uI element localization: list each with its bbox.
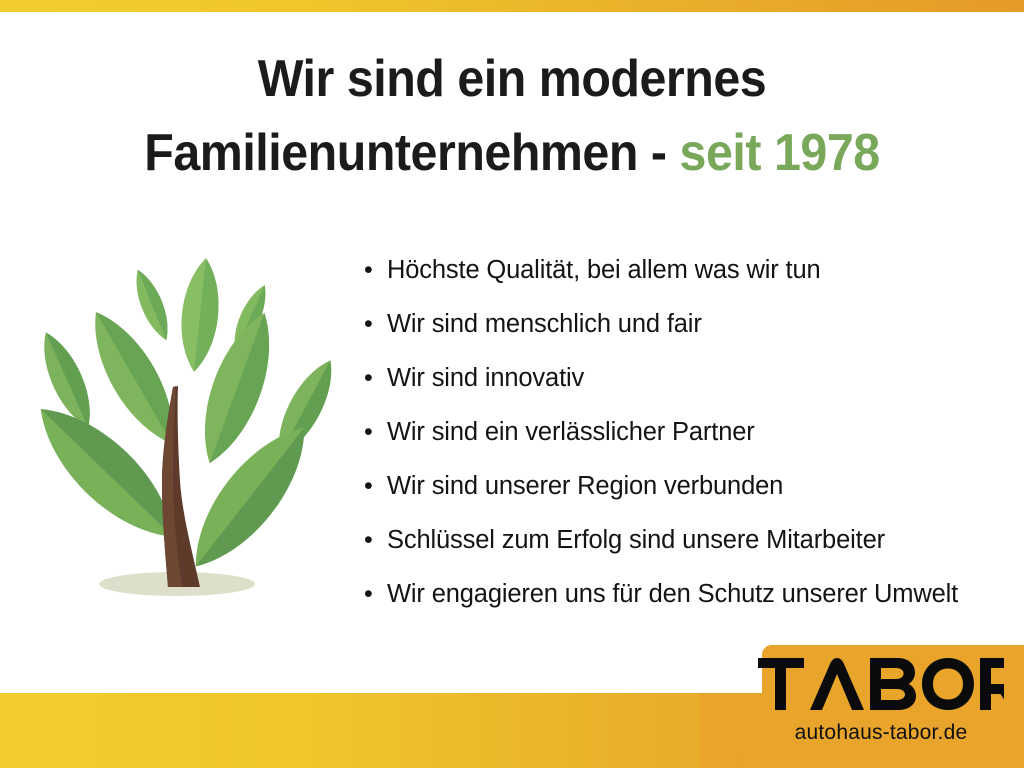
list-item: • Höchste Qualität, bei allem was wir tu… <box>364 243 1014 297</box>
bullet-icon: • <box>364 243 387 297</box>
bullet-icon: • <box>364 351 387 405</box>
tree-illustration <box>22 255 352 605</box>
bullet-icon: • <box>364 459 387 513</box>
page-title-line-1: Wir sind ein modernes <box>36 42 988 116</box>
leaf-lower-right <box>175 411 326 583</box>
list-item-label: Höchste Qualität, bei allem was wir tun <box>387 243 821 297</box>
list-item: • Wir sind ein verlässlicher Partner <box>364 405 1014 459</box>
bullet-icon: • <box>364 513 387 567</box>
leaf-top-center <box>176 256 224 373</box>
bullet-icon: • <box>364 297 387 351</box>
leaf-top-left-small <box>128 266 176 344</box>
list-item-label: Wir sind unserer Region verbunden <box>387 459 783 513</box>
bullet-icon: • <box>364 405 387 459</box>
list-item: • Wir sind menschlich und fair <box>364 297 1014 351</box>
slide-canvas: Wir sind ein modernes Familienunternehme… <box>0 0 1024 768</box>
list-item-label: Wir sind ein verlässlicher Partner <box>387 405 755 459</box>
page-title-line-2-black: Familienunternehmen - <box>144 124 679 182</box>
list-item: • Wir sind unserer Region verbunden <box>364 459 1014 513</box>
top-accent-bar <box>0 0 1024 12</box>
brand-logo-panel[interactable]: autohaus-tabor.de <box>700 640 1024 768</box>
value-bullet-list: • Höchste Qualität, bei allem was wir tu… <box>364 243 1014 621</box>
logo-wordmark <box>758 658 1004 710</box>
list-item-label: Wir engagieren uns für den Schutz unsere… <box>387 567 958 621</box>
page-title-line-2: Familienunternehmen - seit 1978 <box>36 116 988 190</box>
bullet-icon: • <box>364 567 387 621</box>
page-title-accent: seit 1978 <box>680 124 880 182</box>
list-item: • Schlüssel zum Erfolg sind unsere Mitar… <box>364 513 1014 567</box>
list-item: • Wir sind innovativ <box>364 351 1014 405</box>
list-item-label: Wir sind innovativ <box>387 351 584 405</box>
list-item-label: Wir sind menschlich und fair <box>387 297 702 351</box>
list-item: • Wir engagieren uns für den Schutz unse… <box>364 567 1014 621</box>
tree-icon <box>22 255 352 605</box>
logo-tagline[interactable]: autohaus-tabor.de <box>758 720 1004 746</box>
page-title: Wir sind ein modernes Familienunternehme… <box>36 42 988 190</box>
list-item-label: Schlüssel zum Erfolg sind unsere Mitarbe… <box>387 513 885 567</box>
